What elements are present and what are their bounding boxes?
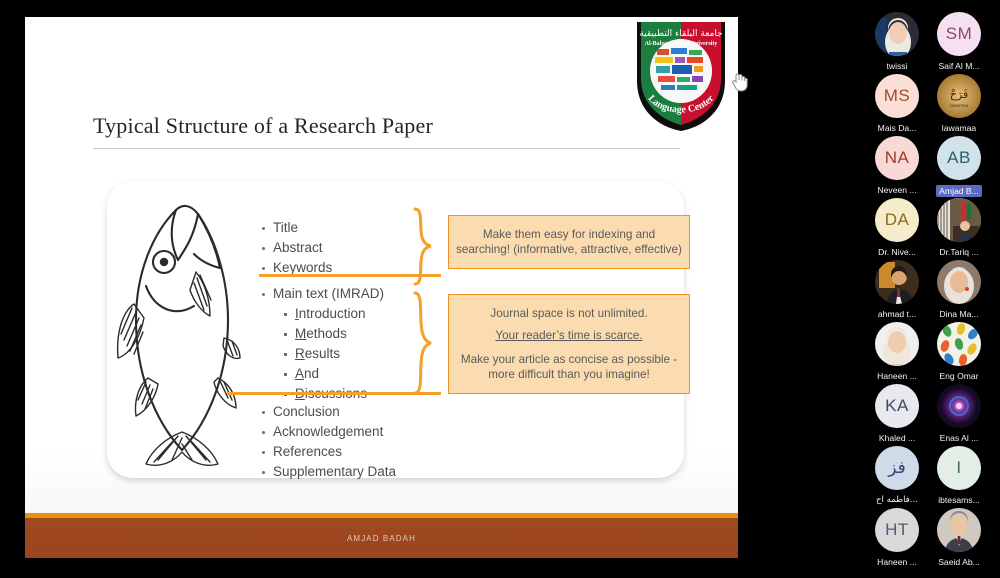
participant-tile[interactable]: Dina Ma... [928,260,990,319]
list-item: Results [280,345,384,364]
avatar-initials: MS [884,86,911,106]
avatar-photo [875,12,919,56]
participant-name: Haneen ... [866,371,928,381]
presentation-slide[interactable]: جامعة البلقاء التطبيقية Al-Balqa Applied… [25,17,738,558]
participant-name: Saeid Ab... [928,557,990,567]
participant-name: Neveen ... [866,185,928,195]
avatar-initials: SM [946,24,973,44]
avatar-photo [875,260,919,304]
bullets-group-front-matter: Title Abstract Keywords [258,219,332,279]
participant-tile[interactable]: فزفاطمه اح... [866,446,928,505]
svg-text:فَرَحْ: فَرَحْ [950,88,968,101]
participant-tile[interactable]: Enas Al ... [928,384,990,443]
avatar[interactable] [937,260,981,304]
avatar[interactable]: MS [875,74,919,118]
participant-tile[interactable]: Haneen ... [866,322,928,381]
footer-presenter-name: AMJAD BADAH [347,534,416,543]
participant-tile[interactable]: Iibtesams... [928,446,990,505]
avatar-initials: NA [885,148,910,168]
screen: جامعة البلقاء التطبيقية Al-Balqa Applied… [0,0,1000,578]
participant-name: Dina Ma... [928,309,990,319]
list-item: References [258,443,396,462]
avatar[interactable]: NA [875,136,919,180]
avatar[interactable]: I [937,446,981,490]
participants-panel[interactable]: twissi SMSaif Al M... MSMais Da... فَرَح… [860,0,1000,578]
participant-tile[interactable]: SMSaif Al M... [928,12,990,71]
participant-tile[interactable]: KAKhaled ... [866,384,928,443]
list-item: Methods [280,325,384,344]
callout-box-indexing: Make them easy for indexing and searchin… [448,215,690,269]
avatar-initials: I [956,458,961,478]
avatar-initials: KA [885,396,909,416]
avatar[interactable]: فَرَحْlawamaa [937,74,981,118]
avatar-photo [937,260,981,304]
brace-icon-bottom [407,291,439,396]
slide-footer-bar: AMJAD BADAH [25,518,738,558]
participant-tile[interactable]: DADr. Nive... [866,198,928,257]
brace-icon-top [407,207,439,287]
imrad-letter: R [295,346,305,361]
list-item: Abstract [258,239,332,258]
list-item: Introduction [280,305,384,324]
participant-name: Saif Al M... [928,61,990,71]
avatar[interactable]: فز [875,446,919,490]
avatar[interactable]: DA [875,198,919,242]
avatar[interactable] [875,260,919,304]
list-item: Conclusion [258,403,396,422]
avatar[interactable] [875,12,919,56]
participant-tile[interactable]: Dr.Tariq ... [928,198,990,257]
list-item: Discussions [280,385,384,404]
avatar[interactable]: HT [875,508,919,552]
avatar[interactable]: AB [937,136,981,180]
list-item: Title [258,219,332,238]
imrad-rest: ethods [306,326,347,341]
imrad-sublist: Introduction Methods Results And Discuss… [258,305,384,404]
avatar-initials: HT [885,520,909,540]
avatar-photo [937,508,981,552]
avatar-photo [937,384,981,428]
participant-name: Haneen ... [866,557,928,567]
participant-tile[interactable]: Eng Omar [928,322,990,381]
list-item: Acknowledgement [258,423,396,442]
imrad-letter: M [295,326,306,341]
callout-text: Make them easy for indexing and searchin… [455,227,683,258]
participant-name: Enas Al ... [928,433,990,443]
avatar-initials: فز [888,458,906,478]
avatar[interactable] [937,198,981,242]
participant-tile[interactable]: NANeveen ... [866,136,928,195]
university-logo: جامعة البلقاء التطبيقية Al-Balqa Applied… [633,19,729,134]
participant-tile[interactable]: ahmad t... [866,260,928,319]
participant-name: twissi [866,61,928,71]
participant-name: ahmad t... [866,309,928,319]
participant-tile[interactable]: فَرَحْlawamaalawamaa [928,74,990,133]
participant-tile[interactable]: MSMais Da... [866,74,928,133]
avatar-photo [937,322,981,366]
avatar-photo: فَرَحْlawamaa [937,74,981,118]
bullets-group-back-matter: Conclusion Acknowledgement References Su… [258,403,396,483]
participant-name: Amjad B... [936,185,982,197]
participant-name: Dr. Nive... [866,247,928,257]
callout-box-conciseness: Journal space is not unlimited. Your rea… [448,294,690,394]
list-item: Main text (IMRAD) [258,285,384,304]
avatar-photo [875,322,919,366]
callout-line-2: Your reader’s time is scarce. [495,328,642,351]
avatar[interactable]: KA [875,384,919,428]
avatar[interactable] [937,508,981,552]
imrad-rest: nd [304,366,319,381]
logo-arabic-text: جامعة البلقاء التطبيقية [639,29,722,39]
svg-text:lawamaa: lawamaa [950,103,969,108]
avatar[interactable] [937,384,981,428]
slide-canvas: جامعة البلقاء التطبيقية Al-Balqa Applied… [25,17,738,558]
participant-tile-active[interactable]: ABAmjad B... [928,136,990,202]
avatar[interactable] [937,322,981,366]
list-item: Supplementary Data [258,463,396,482]
participant-tile[interactable]: Saeid Ab... [928,508,990,567]
avatar[interactable] [875,322,919,366]
participant-name: Mais Da... [866,123,928,133]
list-item: And [280,365,384,384]
title-divider [93,148,680,149]
avatar-photo [937,198,981,242]
imrad-rest: esults [305,346,340,361]
participant-name: ibtesams... [928,495,990,505]
slide-title: Typical Structure of a Research Paper [93,113,433,139]
callout-line-1: Journal space is not unlimited. [490,306,647,321]
imrad-rest: ntroduction [299,306,366,321]
avatar-initials: DA [885,210,910,230]
avatar-initials: AB [947,148,971,168]
participant-name: فاطمه اح... [866,495,928,505]
avatar[interactable]: SM [937,12,981,56]
participant-tile[interactable]: HTHaneen ... [866,508,928,567]
participant-name: Eng Omar [928,371,990,381]
callout-line-3: Make your article as concise as possible… [455,352,683,383]
bullets-group-main-text: Main text (IMRAD) Introduction Methods R… [258,285,384,406]
fish-illustration-icon [112,188,258,473]
imrad-letter: A [295,366,304,381]
participant-name: Khaled ... [866,433,928,443]
participant-tile[interactable]: twissi [866,12,928,71]
logo-english-text: Al-Balqa Applied University [645,41,718,47]
participant-name: Dr.Tariq ... [928,247,990,257]
pointing-hand-cursor [731,70,749,92]
participant-name: lawamaa [928,123,990,133]
